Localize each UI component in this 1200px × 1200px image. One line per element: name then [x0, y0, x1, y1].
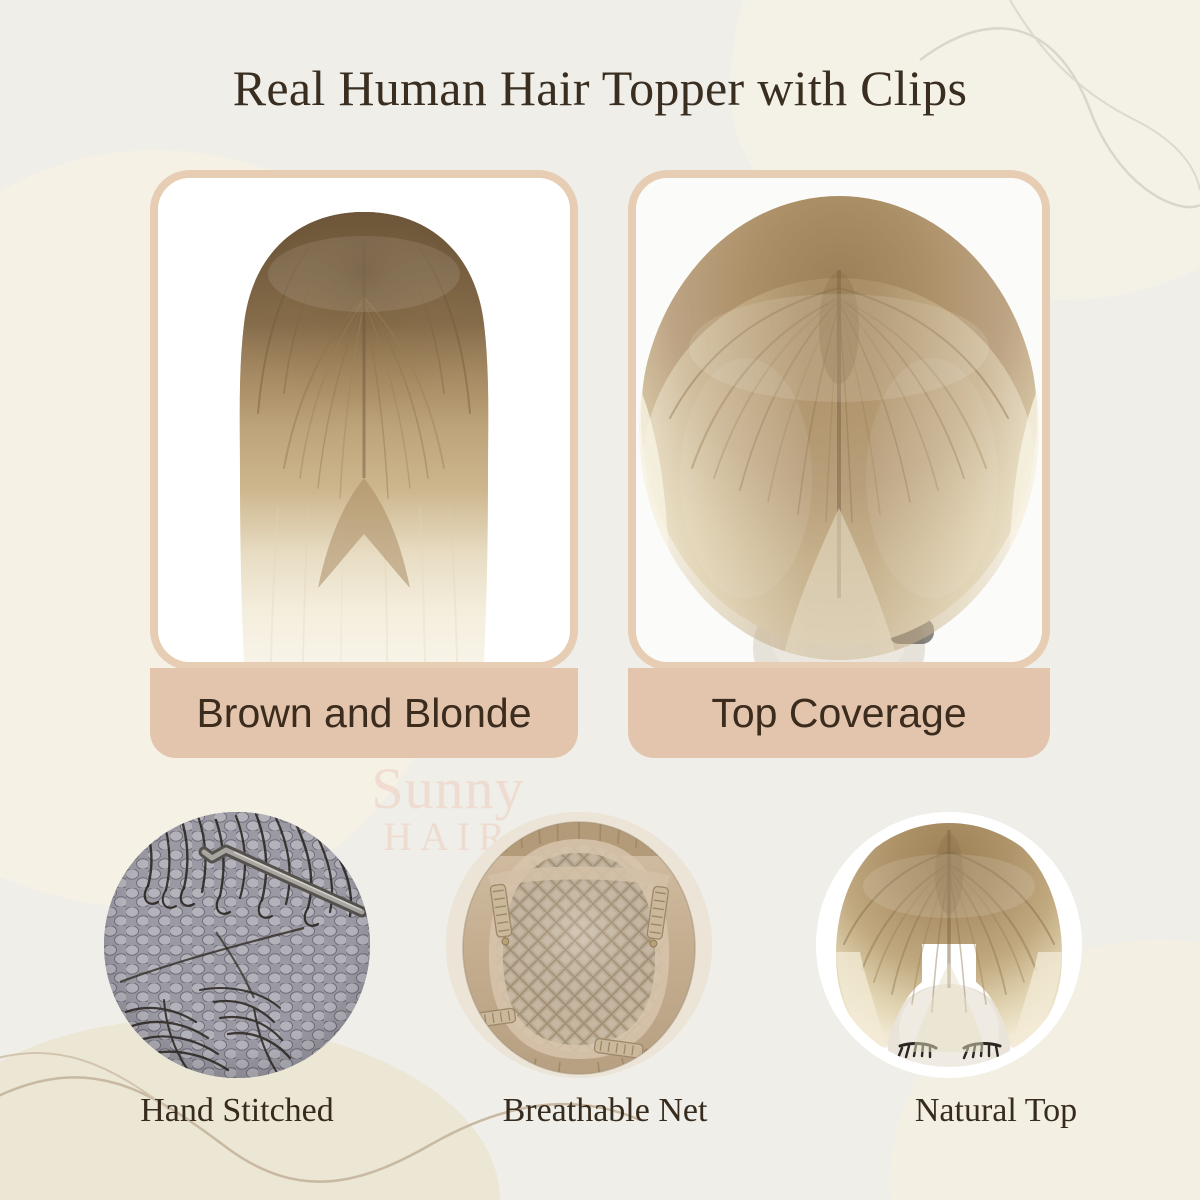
product-card-brown-and-blonde[interactable] [150, 170, 578, 670]
product-card-top-coverage[interactable] [628, 170, 1050, 670]
product-photo-brown-and-blonde [158, 178, 570, 662]
feature-caption-hand-stitched: Hand Stitched [57, 1092, 417, 1130]
product-photo-top-coverage [636, 178, 1042, 662]
feature-image-breathable-net [446, 812, 712, 1078]
watermark-line-1: Sunny [318, 764, 578, 814]
product-label-text: Brown and Blonde [196, 690, 531, 737]
infographic-canvas: Real Human Hair Topper with Clips Sunny … [0, 0, 1200, 1200]
feature-hand-stitched[interactable] [104, 812, 370, 1078]
feature-natural-top[interactable] [816, 812, 1082, 1078]
page-title: Real Human Hair Topper with Clips [0, 62, 1200, 115]
feature-image-hand-stitched [104, 812, 370, 1078]
feature-breathable-net[interactable] [446, 812, 712, 1078]
product-label-brown-and-blonde: Brown and Blonde [150, 668, 578, 758]
product-label-top-coverage: Top Coverage [628, 668, 1050, 758]
feature-caption-natural-top: Natural Top [816, 1092, 1176, 1130]
feature-image-natural-top [816, 812, 1082, 1078]
product-label-text: Top Coverage [711, 690, 966, 737]
feature-caption-breathable-net: Breathable Net [425, 1092, 785, 1130]
